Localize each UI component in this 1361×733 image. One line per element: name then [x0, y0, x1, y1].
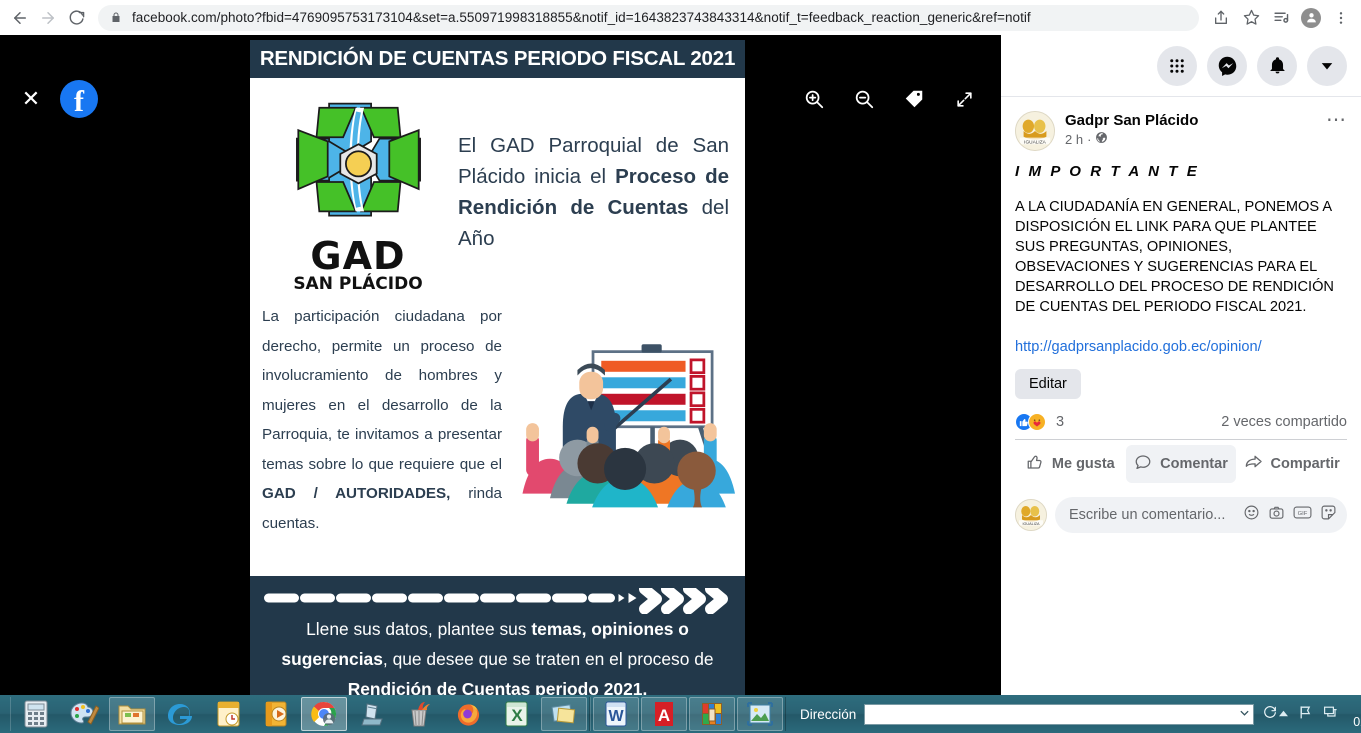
winrar-archive-icon [698, 700, 726, 728]
zoom-in-icon[interactable] [800, 85, 828, 113]
post-header: IGUALIZA Gadpr San Plácido 2 h · ⋯ [1001, 97, 1361, 151]
taskbar-autocad[interactable]: A [641, 697, 687, 731]
messenger-icon[interactable] [1207, 46, 1247, 86]
notifications-bell-icon[interactable] [1257, 46, 1297, 86]
reading-list-icon[interactable] [1267, 4, 1295, 32]
photo-viewer: ✕ f RENDICIÓN DE CUENTAS PERIODO FISCAL … [0, 35, 1001, 695]
taskbar-outlook[interactable] [205, 697, 251, 731]
taskbar-paint[interactable] [61, 697, 107, 731]
gad-wordmark: GAD [258, 238, 458, 274]
reaction-icons[interactable]: 3 [1015, 413, 1064, 431]
post-timestamp: 2 h · [1065, 131, 1326, 149]
share-button-label: Compartir [1271, 456, 1340, 472]
emoji-icon[interactable] [1243, 504, 1260, 526]
file-explorer-icon [117, 701, 147, 727]
edit-button[interactable]: Editar [1015, 369, 1081, 399]
globe-icon [1095, 131, 1108, 149]
taskbar-firefox[interactable] [445, 697, 491, 731]
taskbar-powerpoint[interactable] [541, 697, 587, 731]
avatar[interactable]: IGUALIZA [1015, 111, 1055, 151]
address-toolbar-label: Dirección [800, 707, 856, 722]
chrome-icon [310, 700, 338, 728]
reaction-summary: 3 2 veces compartido [1001, 399, 1361, 439]
address-toolbar-input[interactable] [864, 704, 1254, 725]
thumbs-up-icon [1026, 453, 1044, 475]
star-icon[interactable] [1237, 4, 1265, 32]
post-actions: Me gusta Comentar Compartir [1015, 439, 1347, 487]
paragraph-part1: La participación ciudadana por derecho, … [262, 308, 502, 473]
clock-time: 15:30 [1353, 698, 1361, 714]
poster-body: GAD SAN PLÁCIDO El GAD Parroquial de San… [250, 78, 745, 576]
comment-button-label: Comentar [1160, 456, 1228, 472]
clock-date: 02/02/2022 [1353, 714, 1361, 730]
share-count[interactable]: 2 veces compartido [1221, 414, 1347, 430]
taskbar-calculator[interactable] [13, 697, 59, 731]
outlook-icon [215, 700, 242, 728]
scanner-icon [358, 700, 386, 728]
taskbar-archive[interactable] [689, 697, 735, 731]
post-body: I M P O R T A N T E A LA CIUDADANÍA EN G… [1001, 151, 1361, 399]
comment-attachment-icons: GIF [1243, 504, 1337, 526]
share-icon[interactable] [1207, 4, 1235, 32]
taskbar-photos[interactable] [737, 697, 783, 731]
post-sidebar: IGUALIZA Gadpr San Plácido 2 h · ⋯ I M P… [1001, 35, 1361, 695]
poster-lower: La participación ciudadana por derecho, … [250, 294, 745, 542]
share-button[interactable]: Compartir [1236, 444, 1347, 483]
timestamp-separator: · [1087, 131, 1091, 149]
footer-bold2: Rendición de Cuentas periodo 2021. [348, 679, 648, 695]
lock-icon [110, 11, 122, 24]
account-chevron-icon[interactable] [1307, 46, 1347, 86]
dashed-arrow-icon [262, 588, 733, 614]
post-link[interactable]: http://gadprsanplacido.gob.ec/opinion/ [1015, 337, 1347, 357]
tray-show-hidden-icon[interactable] [1278, 705, 1289, 723]
chrome-toolbar-icons [1207, 4, 1355, 32]
profile-avatar-icon[interactable] [1297, 4, 1325, 32]
word-icon: W [603, 700, 629, 728]
care-reaction-icon [1028, 413, 1046, 431]
shredder-icon [406, 700, 434, 728]
page-avatar-icon: IGUALIZA [1016, 500, 1046, 530]
share-arrow-icon [1244, 452, 1263, 475]
excel-icon: X [503, 700, 530, 728]
facebook-logo-icon[interactable]: f [60, 80, 98, 118]
post-text: A LA CIUDADANÍA EN GENERAL, PONEMOS A DI… [1015, 197, 1347, 317]
internet-explorer-icon [166, 700, 194, 728]
back-arrow-icon[interactable] [6, 4, 34, 32]
post-author-meta: Gadpr San Plácido 2 h · [1055, 111, 1326, 149]
facebook-header-bar [1001, 35, 1361, 97]
post-more-options[interactable]: ⋯ [1326, 111, 1347, 125]
taskbar-word[interactable]: W [593, 697, 639, 731]
footer-part1: Llene sus datos, plantee sus [306, 619, 531, 639]
page-avatar-icon: IGUALIZA [1016, 112, 1054, 150]
url-text: facebook.com/photo?fbid=4769095753173104… [132, 10, 1031, 25]
like-button[interactable]: Me gusta [1015, 445, 1126, 483]
svg-text:W: W [608, 708, 624, 725]
taskbar-media-player[interactable] [253, 697, 299, 731]
footer-part2: , que desee que se traten en el proceso … [383, 649, 714, 669]
poster-paragraph: La participación ciudadana por derecho, … [262, 302, 502, 542]
taskbar-explorer[interactable] [109, 697, 155, 731]
comment-placeholder: Escribe un comentario... [1069, 507, 1243, 523]
zoom-out-icon[interactable] [850, 85, 878, 113]
fullscreen-icon[interactable] [950, 85, 978, 113]
poster-hero: GAD SAN PLÁCIDO El GAD Parroquial de San… [250, 78, 745, 294]
tag-icon[interactable] [900, 85, 928, 113]
camera-icon[interactable] [1268, 504, 1285, 526]
tray-flag-icon[interactable] [1298, 704, 1314, 725]
taskbar-running-apps: W A [590, 697, 786, 731]
svg-text:IGUALIZA: IGUALIZA [1022, 522, 1040, 526]
post-author-name[interactable]: Gadpr San Plácido [1065, 111, 1326, 130]
gad-logo: GAD SAN PLÁCIDO [258, 92, 458, 294]
three-dot-menu-icon[interactable] [1327, 4, 1355, 32]
poster-footer: Llene sus datos, plantee sus temas, opin… [250, 576, 745, 695]
paint-palette-icon [69, 700, 99, 728]
menu-grid-icon[interactable] [1157, 46, 1197, 86]
meeting-illustration [502, 302, 735, 542]
arrow-divider [262, 588, 733, 614]
calculator-icon [23, 700, 49, 728]
taskbar-address-toolbar: Dirección [800, 704, 1278, 725]
paragraph-bold: GAD / AUTORIDADES, [262, 485, 450, 502]
gif-icon[interactable]: GIF [1293, 504, 1312, 526]
autocad-icon: A [651, 700, 677, 728]
gad-subtitle: SAN PLÁCIDO [258, 274, 458, 294]
svg-text:A: A [658, 706, 670, 725]
comment-button[interactable]: Comentar [1126, 445, 1237, 483]
taskbar-internet-explorer[interactable] [157, 697, 203, 731]
taskbar-quicklaunch: X [10, 697, 590, 731]
browser-toolbar: facebook.com/photo?fbid=4769095753173104… [0, 0, 1361, 35]
media-player-icon [263, 700, 289, 728]
taskbar-shredder[interactable] [397, 697, 443, 731]
taskbar-clock[interactable]: 15:30 02/02/2022 [1353, 698, 1361, 730]
chevron-down-icon[interactable] [1239, 708, 1250, 721]
address-bar[interactable]: facebook.com/photo?fbid=4769095753173104… [98, 5, 1199, 31]
taskbar-chrome[interactable] [301, 697, 347, 731]
tray-network-icon[interactable] [1323, 704, 1339, 725]
viewer-tools [800, 85, 978, 113]
gad-emblem-icon [286, 98, 431, 238]
svg-text:IGUALIZA: IGUALIZA [1024, 139, 1046, 145]
comment-composer: IGUALIZA Escribe un comentario... GIF [1001, 487, 1361, 533]
reaction-pill [1015, 413, 1046, 431]
poster-hero-text: El GAD Parroquial de San Plácido inicia … [458, 92, 737, 294]
svg-text:X: X [511, 706, 523, 725]
taskbar-scanner[interactable] [349, 697, 395, 731]
sticker-icon[interactable] [1320, 504, 1337, 526]
system-tray [1278, 704, 1339, 725]
like-button-label: Me gusta [1052, 456, 1115, 472]
reload-icon[interactable] [62, 4, 90, 32]
svg-text:GIF: GIF [1298, 511, 1308, 517]
poster-title: RENDICIÓN DE CUENTAS PERIODO FISCAL 2021 [250, 40, 745, 78]
photo-viewer-icon [746, 700, 774, 728]
comment-avatar[interactable]: IGUALIZA [1015, 499, 1047, 531]
post-heading: I M P O R T A N T E [1015, 161, 1347, 183]
poster-footer-text: Llene sus datos, plantee sus temas, opin… [262, 614, 733, 695]
close-icon[interactable]: ✕ [17, 85, 45, 113]
windows-taskbar: X W A Dirección [0, 695, 1361, 733]
forward-arrow-icon[interactable] [34, 4, 62, 32]
taskbar-excel[interactable]: X [493, 697, 539, 731]
presentation-illustration-icon [506, 322, 735, 537]
address-toolbar-go-icon[interactable] [1262, 704, 1278, 724]
poster-image[interactable]: RENDICIÓN DE CUENTAS PERIODO FISCAL 2021 [250, 40, 745, 695]
reaction-count: 3 [1056, 414, 1064, 430]
comment-bubble-icon [1134, 453, 1152, 475]
firefox-icon [455, 700, 482, 728]
powerpoint-icon [550, 700, 578, 728]
comment-input[interactable]: Escribe un comentario... GIF [1055, 497, 1347, 533]
post-time-text: 2 h [1065, 131, 1083, 149]
